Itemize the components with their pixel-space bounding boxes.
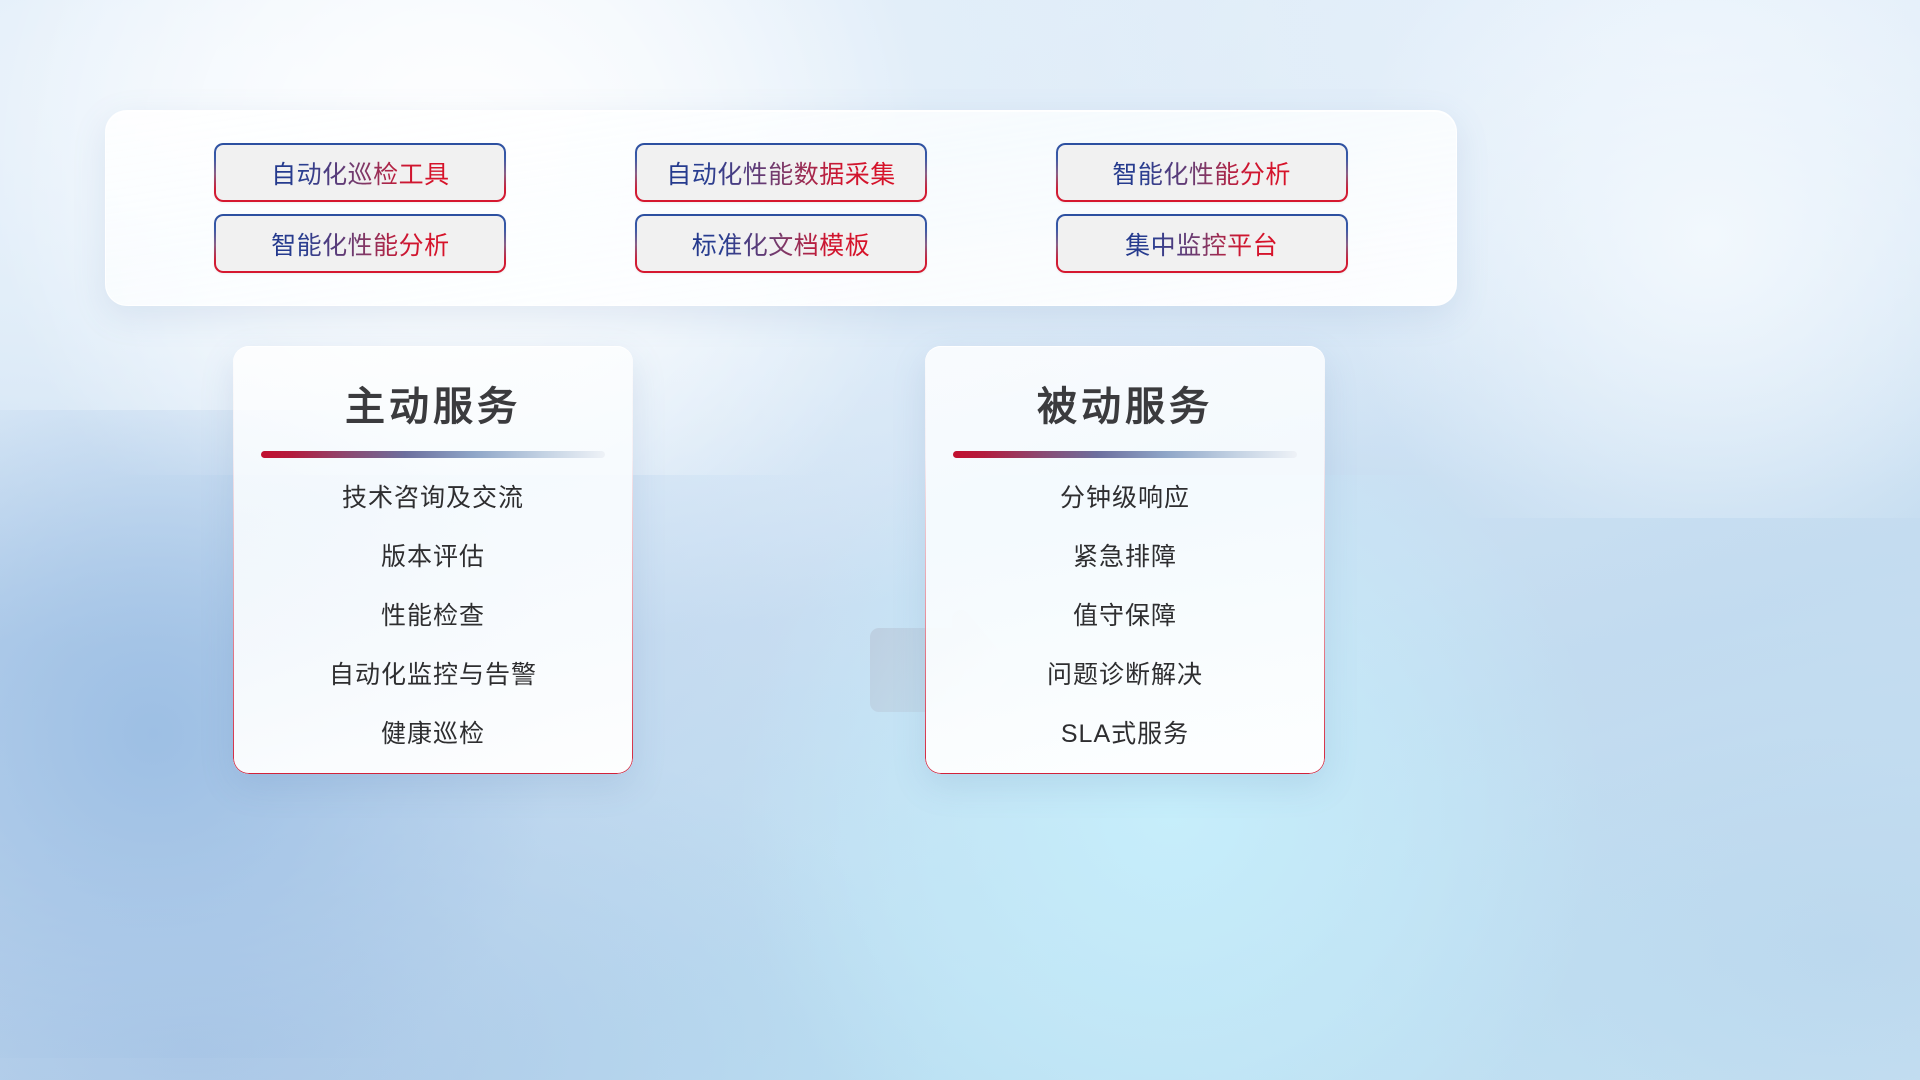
service-list-item: 分钟级响应 bbox=[925, 486, 1325, 511]
capability-chip[interactable]: 集中监控平台 bbox=[1056, 214, 1348, 273]
capability-chip-label: 智能化性能分析 bbox=[271, 226, 450, 262]
capability-chip[interactable]: 自动化巡检工具 bbox=[214, 143, 506, 202]
service-list-item: 问题诊断解决 bbox=[925, 663, 1325, 688]
capability-chip-label: 自动化巡检工具 bbox=[271, 155, 450, 191]
service-list-item: 性能检查 bbox=[233, 604, 633, 629]
service-list-item: 健康巡检 bbox=[233, 722, 633, 747]
capability-chip[interactable]: 智能化性能分析 bbox=[1056, 143, 1348, 202]
capability-chip-label: 自动化性能数据采集 bbox=[666, 155, 896, 191]
capability-chips-panel: 自动化巡检工具 自动化性能数据采集 智能化性能分析 智能化性能分析 标准化文档模… bbox=[105, 110, 1457, 306]
service-card-proactive: 主动服务 技术咨询及交流 版本评估 性能检查 自动化监控与告警 健康巡检 bbox=[233, 346, 633, 774]
service-list-item: 自动化监控与告警 bbox=[233, 663, 633, 688]
service-card-reactive: 被动服务 分钟级响应 紧急排障 值守保障 问题诊断解决 SLA式服务 bbox=[925, 346, 1325, 774]
card-title-divider bbox=[261, 451, 605, 458]
capability-chip[interactable]: 智能化性能分析 bbox=[214, 214, 506, 273]
service-list-item: 值守保障 bbox=[925, 604, 1325, 629]
capability-chip[interactable]: 自动化性能数据采集 bbox=[635, 143, 927, 202]
card-title: 被动服务 bbox=[925, 374, 1325, 432]
service-list-item: 技术咨询及交流 bbox=[233, 486, 633, 511]
service-list-item: SLA式服务 bbox=[925, 722, 1325, 747]
capability-chip-grid: 自动化巡检工具 自动化性能数据采集 智能化性能分析 智能化性能分析 标准化文档模… bbox=[106, 111, 1456, 305]
capability-chip[interactable]: 标准化文档模板 bbox=[635, 214, 927, 273]
service-list-item: 紧急排障 bbox=[925, 545, 1325, 570]
service-item-list: 分钟级响应 紧急排障 值守保障 问题诊断解决 SLA式服务 bbox=[925, 486, 1325, 747]
capability-chip-label: 标准化文档模板 bbox=[692, 226, 871, 262]
card-title-divider bbox=[953, 451, 1297, 458]
service-item-list: 技术咨询及交流 版本评估 性能检查 自动化监控与告警 健康巡检 bbox=[233, 486, 633, 747]
capability-chip-label: 集中监控平台 bbox=[1125, 226, 1278, 262]
card-title: 主动服务 bbox=[233, 374, 633, 432]
service-list-item: 版本评估 bbox=[233, 545, 633, 570]
capability-chip-label: 智能化性能分析 bbox=[1112, 155, 1291, 191]
